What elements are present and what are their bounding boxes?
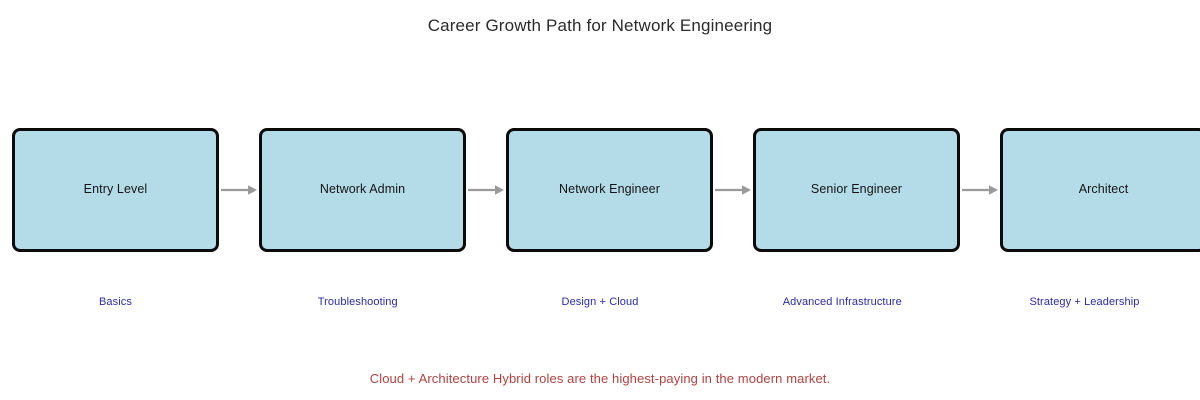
footnote-text: Cloud + Architecture Hybrid roles are th…: [0, 371, 1200, 386]
flow-connector-4: [960, 128, 1000, 252]
arrow-right-icon: [466, 183, 506, 197]
stage-label-cell-entry-level: Basics: [12, 292, 219, 310]
stage-label-gap: [461, 292, 496, 310]
arrow-right-icon: [713, 183, 753, 197]
stage-label: Design + Cloud: [562, 296, 639, 308]
flow-connector-1: [219, 128, 259, 252]
flow-node-architect[interactable]: Architect: [1000, 128, 1200, 252]
arrow-right-icon: [960, 183, 1000, 197]
arrow-right-icon: [219, 183, 259, 197]
stage-label-gap: [704, 292, 739, 310]
stage-label-cell-senior-engineer: Advanced Infrastructure: [739, 292, 946, 310]
flow-connector-2: [466, 128, 506, 252]
flow-node-label: Architect: [1079, 182, 1129, 198]
flow-node-network-engineer[interactable]: Network Engineer: [506, 128, 713, 252]
flow-node-senior-engineer[interactable]: Senior Engineer: [753, 128, 960, 252]
stage-label: Troubleshooting: [318, 296, 398, 308]
flow-connector-3: [713, 128, 753, 252]
flowchart-node-row: Entry Level Network Admin Network Engine…: [12, 128, 1188, 252]
page-title: Career Growth Path for Network Engineeri…: [0, 16, 1200, 36]
flow-node-label: Network Admin: [320, 182, 405, 198]
stage-label-gap: [219, 292, 254, 310]
flow-node-label: Network Engineer: [559, 182, 660, 198]
stage-label-gap: [946, 292, 981, 310]
stage-label: Strategy + Leadership: [1029, 296, 1139, 308]
stage-label: Basics: [99, 296, 132, 308]
stage-label-cell-architect: Strategy + Leadership: [981, 292, 1188, 310]
stage-label-row: Basics Troubleshooting Design + Cloud Ad…: [12, 292, 1188, 310]
flow-node-label: Entry Level: [84, 182, 148, 198]
stage-label: Advanced Infrastructure: [783, 296, 902, 308]
flow-node-network-admin[interactable]: Network Admin: [259, 128, 466, 252]
flow-node-label: Senior Engineer: [811, 182, 902, 198]
stage-label-cell-network-admin: Troubleshooting: [254, 292, 461, 310]
flow-node-entry-level[interactable]: Entry Level: [12, 128, 219, 252]
stage-label-cell-network-engineer: Design + Cloud: [497, 292, 704, 310]
